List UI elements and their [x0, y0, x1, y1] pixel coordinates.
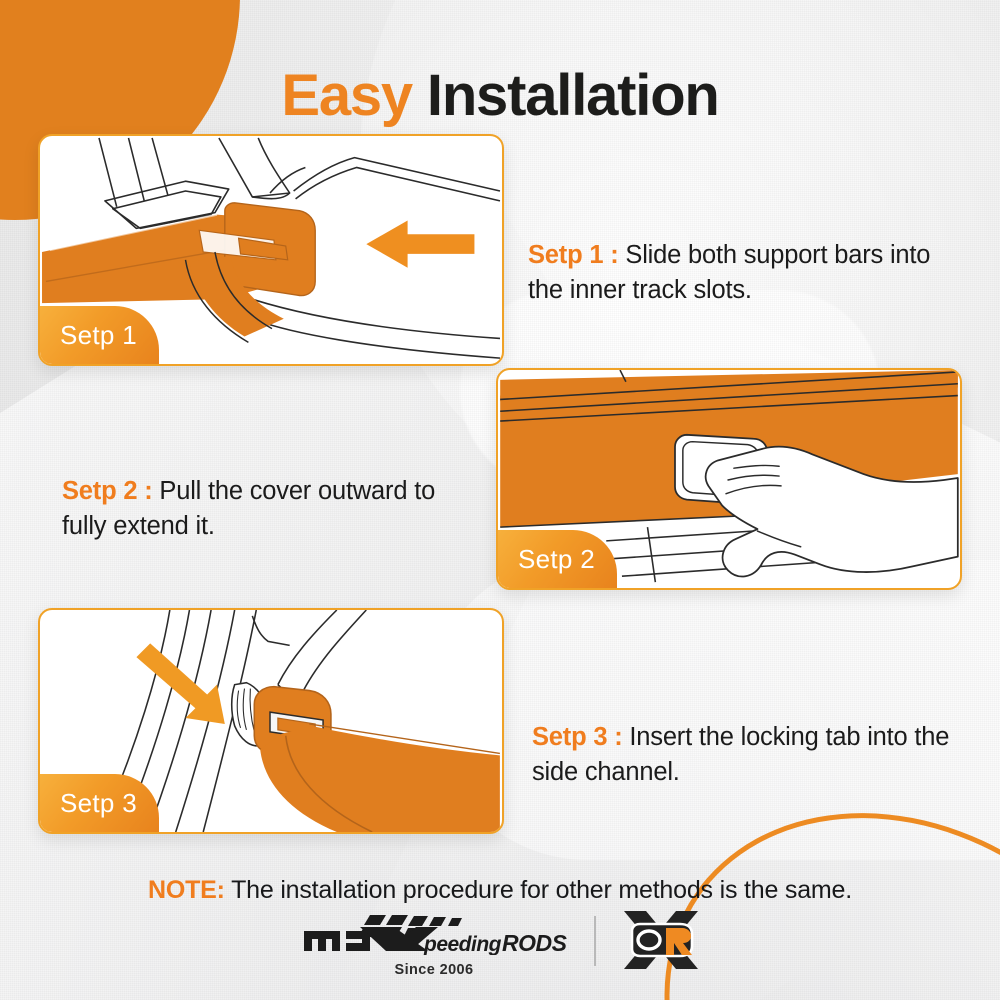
step-1-lead: Setp 1 : — [528, 241, 619, 269]
footer-logos: peeding RODS Since 2006 — [0, 909, 1000, 982]
footer-divider — [594, 916, 596, 966]
step-2-lead: Setp 2 : — [62, 477, 153, 505]
svg-text:peeding: peeding — [423, 933, 502, 955]
step-3-lead: Setp 3 : — [532, 723, 623, 751]
step-1-illustration-panel: Setp 1 — [38, 134, 504, 366]
step-3-description: Setp 3 : Insert the locking tab into the… — [532, 720, 952, 790]
note-label: NOTE: — [148, 876, 225, 904]
page-title: Easy Installation — [0, 67, 1000, 125]
step-1-description: Setp 1 : Slide both support bars into th… — [528, 238, 958, 308]
step-3-badge: Setp 3 — [40, 774, 159, 832]
oxr-x-badge-icon — [622, 909, 700, 971]
oxr-logo — [622, 909, 700, 976]
infographic-page: Easy Installation — [0, 0, 1000, 1000]
note-line: NOTE: The installation procedure for oth… — [0, 876, 1000, 905]
step-2-badge: Setp 2 — [498, 530, 617, 588]
maxpeedingrods-wordmark: peeding RODS — [300, 913, 568, 955]
step-3-locking-tab — [254, 687, 500, 832]
svg-text:RODS: RODS — [502, 930, 568, 955]
brand-since-label: Since 2006 — [395, 962, 474, 978]
page-title-main: Installation — [427, 63, 719, 128]
page-title-accent: Easy — [281, 63, 412, 128]
step-3-illustration-panel: Setp 3 — [38, 608, 504, 834]
maxpeedingrods-logo: peeding RODS — [300, 913, 568, 960]
step-1-badge: Setp 1 — [40, 306, 159, 364]
note-text: The installation procedure for other met… — [231, 876, 852, 904]
step-2-illustration-panel: Setp 2 — [496, 368, 962, 590]
maxpeedingrods-brand-block: peeding RODS Since 2006 — [300, 913, 568, 978]
step-1-arrow-icon — [366, 221, 474, 268]
step-2-description: Setp 2 : Pull the cover outward to fully… — [62, 474, 482, 544]
